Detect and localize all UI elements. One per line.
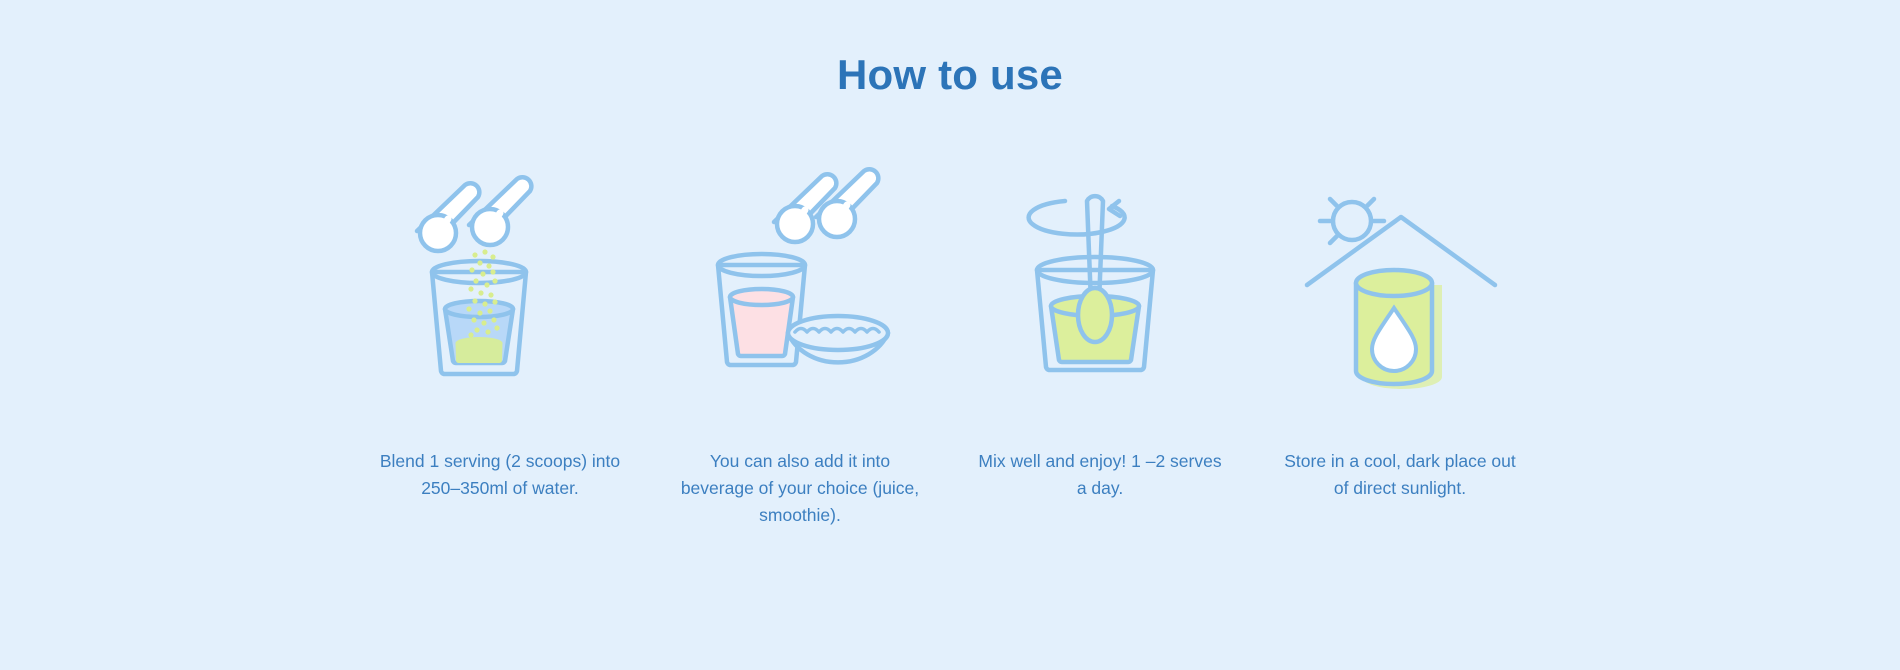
step-caption: Mix well and enjoy! 1 –2 serves a day. [975,448,1225,502]
step-caption: You can also add it into beverage of you… [675,448,925,529]
how-to-use-section: How to use [0,0,1900,670]
step-item: Mix well and enjoy! 1 –2 serves a day. [950,140,1250,502]
glass-and-bowl-icon [670,140,930,390]
glass-with-spoon-stir-icon [970,140,1230,390]
step-item: You can also add it into beverage of you… [650,140,950,529]
page-title: How to use [0,0,1900,98]
step-item: Store in a cool, dark place out of direc… [1250,140,1550,502]
step-caption: Blend 1 serving (2 scoops) into 250–350m… [375,448,625,502]
glass-with-scoops-icon [370,140,630,390]
step-item: Blend 1 serving (2 scoops) into 250–350m… [350,140,650,502]
container-under-roof-sun-icon [1270,140,1530,390]
steps-list: Blend 1 serving (2 scoops) into 250–350m… [0,140,1900,529]
step-caption: Store in a cool, dark place out of direc… [1275,448,1525,502]
